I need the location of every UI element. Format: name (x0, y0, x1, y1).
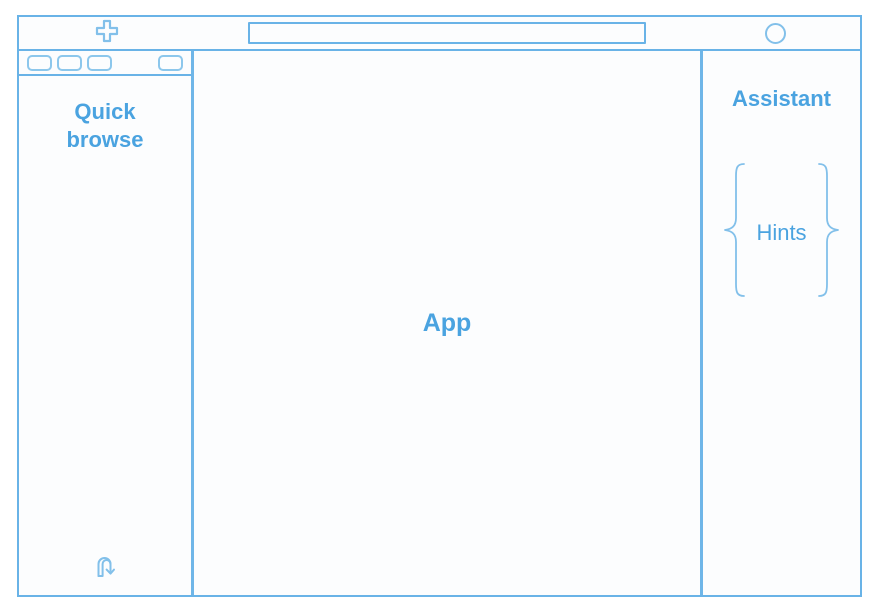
top-bar-center-section (194, 17, 700, 49)
hints-label: Hints (752, 220, 810, 246)
top-bar (19, 17, 860, 51)
quick-browse-sidebar: Quick browse (19, 51, 194, 595)
left-curly-brace-icon (720, 160, 750, 305)
app-label: App (423, 309, 472, 338)
circle-avatar-icon[interactable] (765, 23, 786, 44)
address-input[interactable] (248, 22, 646, 44)
sidebar-tool-3-button[interactable] (87, 55, 112, 71)
sidebar-toolbar (19, 51, 191, 76)
sidebar-body: Quick browse (19, 76, 191, 595)
hints-block: Hints (720, 160, 842, 305)
sidebar-footer (19, 551, 191, 586)
plus-icon[interactable] (94, 18, 120, 49)
assistant-title: Assistant (732, 86, 831, 112)
top-bar-right-section (700, 17, 860, 49)
sidebar-title: Quick browse (19, 98, 191, 154)
top-bar-left-section (19, 17, 194, 49)
sidebar-title-line-1: Quick (29, 98, 181, 126)
app-window: Quick browse App (17, 15, 862, 597)
sidebar-tool-1-button[interactable] (27, 55, 52, 71)
app-content-area[interactable]: App (194, 51, 700, 595)
window-body: Quick browse App (19, 51, 860, 595)
sidebar-tool-2-button[interactable] (57, 55, 82, 71)
assistant-panel: Assistant Hints (700, 51, 860, 595)
right-curly-brace-icon (813, 160, 843, 305)
sidebar-title-line-2: browse (29, 126, 181, 154)
sidebar-tool-4-button[interactable] (158, 55, 183, 71)
u-turn-arrow-icon[interactable] (90, 551, 120, 586)
